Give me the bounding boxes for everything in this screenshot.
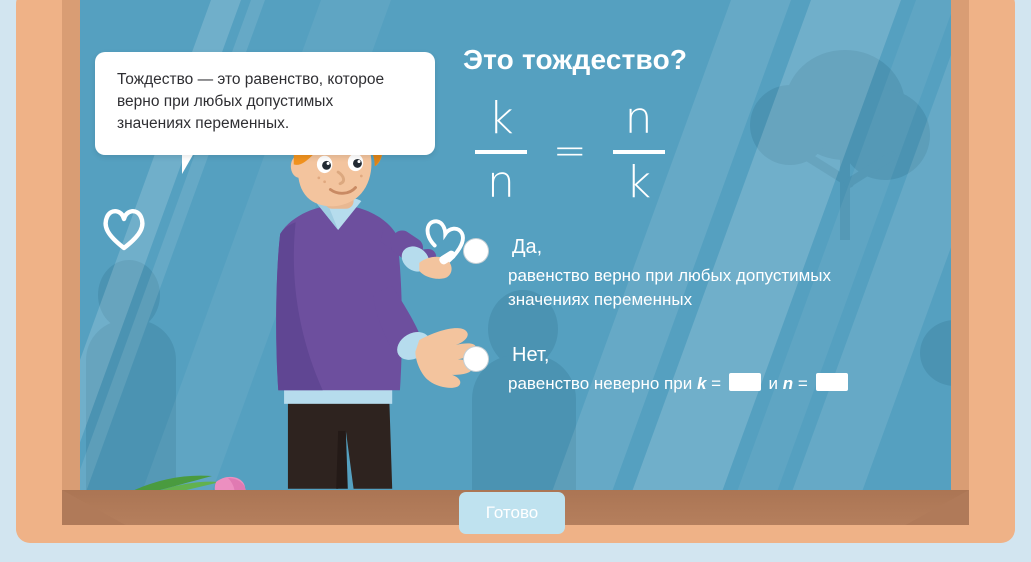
variable-k: k [697, 374, 706, 393]
equals-k: = [706, 374, 725, 393]
equals-n: = [793, 374, 812, 393]
option-no-label: Нет, [508, 342, 851, 368]
fraction-right-bar [613, 150, 665, 154]
picture-frame-bevel-right [951, 0, 969, 525]
fraction-left-denominator: n [487, 159, 515, 205]
radio-button-no[interactable] [463, 346, 489, 372]
speech-bubble: Тождество — это равенство, которое верно… [95, 52, 435, 155]
option-yes-label: Да, [508, 234, 831, 260]
screen-root: Тождество — это равенство, которое верно… [0, 0, 1031, 562]
variable-n: n [783, 374, 793, 393]
answer-input-k[interactable] [729, 373, 761, 391]
answer-input-n[interactable] [816, 373, 848, 391]
option-yes[interactable]: Да, равенство верно при любых допустимых… [463, 234, 943, 312]
footer-actions: Готово [459, 492, 565, 534]
option-no-text-prefix: равенство неверно при [508, 374, 697, 393]
picture-frame-bevel-left [62, 0, 80, 525]
question-panel: Это тождество? k n = n k Да, равенство в… [463, 44, 943, 426]
fraction-left: k n [475, 97, 527, 205]
option-yes-body: Да, равенство верно при любых допустимых… [508, 234, 831, 312]
answer-options: Да, равенство верно при любых допустимых… [463, 234, 943, 396]
fraction-left-numerator: k [488, 97, 513, 147]
conjunction-and: и [764, 374, 783, 393]
fraction-right-denominator: k [626, 159, 651, 205]
equation: k n = n k [463, 96, 943, 206]
question-title: Это тождество? [463, 44, 943, 76]
radio-button-yes[interactable] [463, 238, 489, 264]
fraction-right: n k [613, 97, 665, 205]
fraction-right-numerator: n [625, 97, 653, 147]
option-no[interactable]: Нет, равенство неверно при k = и n = [463, 342, 943, 396]
fraction-left-bar [475, 150, 527, 154]
option-yes-description: равенство верно при любых допустимых зна… [508, 264, 831, 312]
done-button[interactable]: Готово [459, 492, 565, 534]
tulip-flower [120, 452, 260, 490]
equals-sign: = [553, 128, 587, 174]
chalk-heart-large [100, 205, 148, 253]
speech-bubble-text: Тождество — это равенство, которое верно… [117, 69, 413, 135]
option-no-body: Нет, равенство неверно при k = и n = [508, 342, 851, 396]
person-silhouette-left [98, 260, 160, 330]
option-no-description: равенство неверно при k = и n = [508, 372, 851, 396]
